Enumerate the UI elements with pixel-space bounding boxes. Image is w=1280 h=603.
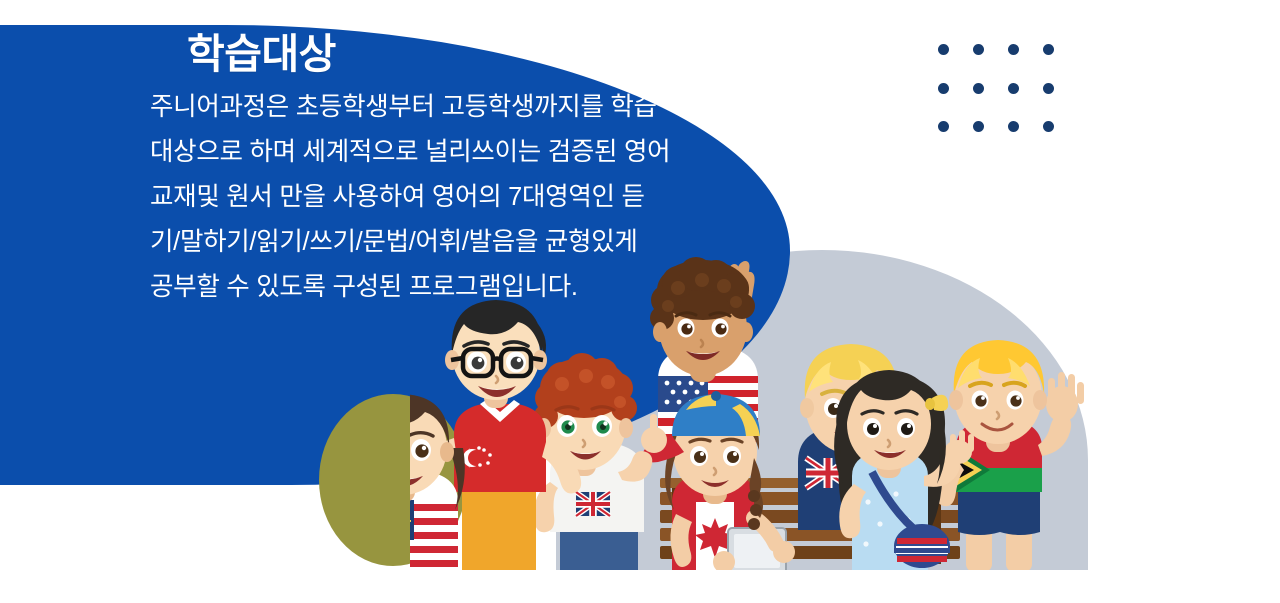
thailand-flag-bag bbox=[894, 524, 950, 568]
dot-grid-pattern bbox=[938, 44, 1078, 160]
bottom-white-strip bbox=[0, 570, 1280, 603]
body-line: 교재및 원서 만을 사용하여 영어의 7대영역인 듣 bbox=[150, 175, 770, 220]
uk-flag-patch bbox=[576, 492, 610, 516]
dot bbox=[938, 121, 949, 132]
body-line: 대상으로 하며 세계적으로 널리쓰이는 검증된 영어 bbox=[150, 130, 770, 175]
dot bbox=[973, 83, 984, 94]
dot bbox=[1008, 44, 1019, 55]
text-panel: 학습대상 주니어과정은 초등학생부터 고등학생까지를 학습 대상으로 하며 세계… bbox=[150, 30, 770, 310]
body-line: 주니어과정은 초등학생부터 고등학생까지를 학습 bbox=[150, 85, 770, 130]
page-title: 학습대상 bbox=[187, 30, 770, 79]
slide-canvas: 학습대상 주니어과정은 초등학생부터 고등학생까지를 학습 대상으로 하며 세계… bbox=[0, 0, 1280, 603]
dot bbox=[973, 44, 984, 55]
body-line: 공부할 수 있도록 구성된 프로그램입니다. bbox=[150, 265, 770, 310]
panel-body: 주니어과정은 초등학생부터 고등학생까지를 학습 대상으로 하며 세계적으로 널… bbox=[150, 85, 770, 310]
dot bbox=[1043, 121, 1054, 132]
dot bbox=[1043, 44, 1054, 55]
dot bbox=[1008, 121, 1019, 132]
body-line: 기/말하기/읽기/쓰기/문법/어휘/발음을 균형있게 bbox=[150, 220, 770, 265]
dot bbox=[1008, 83, 1019, 94]
dot bbox=[1043, 83, 1054, 94]
dot bbox=[938, 83, 949, 94]
dot bbox=[973, 121, 984, 132]
dot bbox=[938, 44, 949, 55]
